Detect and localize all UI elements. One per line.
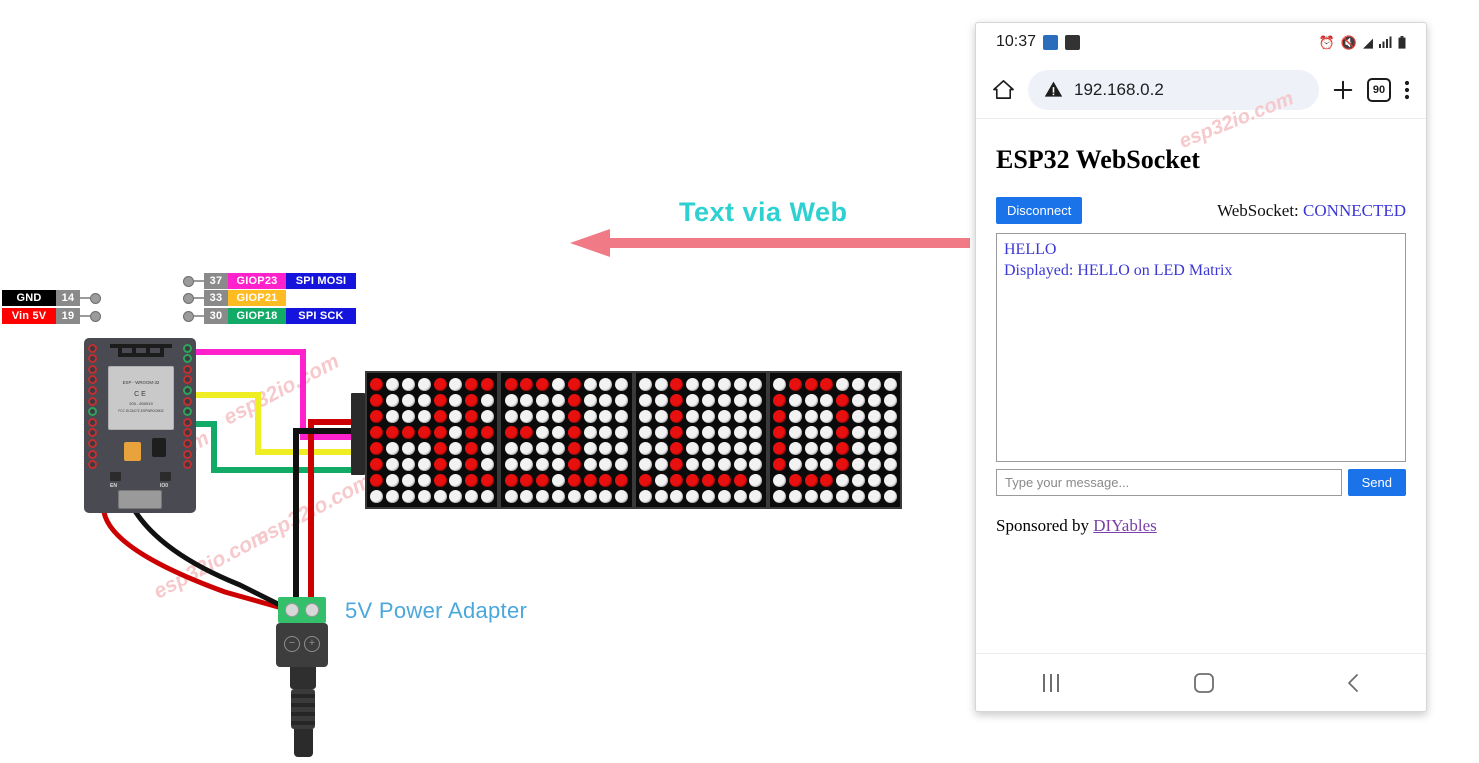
led-row bbox=[772, 456, 898, 472]
led-off bbox=[536, 458, 549, 471]
led-on bbox=[670, 426, 683, 439]
led-off bbox=[481, 490, 494, 503]
led-off bbox=[773, 474, 786, 487]
led-off bbox=[505, 458, 518, 471]
led-off bbox=[852, 474, 865, 487]
led-on bbox=[702, 474, 715, 487]
led-on bbox=[820, 378, 833, 391]
led-off bbox=[852, 410, 865, 423]
led-off bbox=[449, 490, 462, 503]
browser-toolbar: 192.168.0.2 90 bbox=[976, 61, 1426, 119]
websocket-control-row: Disconnect WebSocket: CONNECTED bbox=[996, 197, 1406, 224]
led-off bbox=[568, 490, 581, 503]
ws-status-label: WebSocket: bbox=[1217, 201, 1299, 220]
led-off bbox=[820, 410, 833, 423]
led-off bbox=[734, 442, 747, 455]
led-off bbox=[884, 474, 897, 487]
led-on bbox=[370, 410, 383, 423]
led-row bbox=[503, 376, 629, 392]
led-off bbox=[449, 474, 462, 487]
en-button bbox=[110, 472, 121, 481]
led-off bbox=[418, 490, 431, 503]
matrix-connector bbox=[351, 393, 365, 475]
alarm-icon: ⏰ bbox=[1319, 36, 1335, 49]
led-on bbox=[734, 474, 747, 487]
led-off bbox=[552, 442, 565, 455]
led-off bbox=[749, 394, 762, 407]
led-off bbox=[418, 394, 431, 407]
led-off bbox=[599, 442, 612, 455]
led-off bbox=[805, 458, 818, 471]
led-off bbox=[386, 394, 399, 407]
led-off bbox=[749, 378, 762, 391]
led-row bbox=[503, 440, 629, 456]
led-off bbox=[702, 442, 715, 455]
led-on bbox=[434, 474, 447, 487]
url-text[interactable]: 192.168.0.2 bbox=[1074, 80, 1164, 100]
led-on bbox=[465, 474, 478, 487]
led-off bbox=[852, 442, 865, 455]
home-icon[interactable] bbox=[992, 78, 1015, 101]
mute-icon: 🔇 bbox=[1341, 36, 1357, 49]
battery-icon bbox=[1398, 36, 1406, 49]
led-on bbox=[434, 426, 447, 439]
led-on bbox=[686, 474, 699, 487]
back-icon[interactable] bbox=[1345, 672, 1361, 694]
led-off bbox=[805, 394, 818, 407]
led-off bbox=[820, 442, 833, 455]
led-on bbox=[789, 378, 802, 391]
led-on bbox=[670, 442, 683, 455]
led-on bbox=[836, 410, 849, 423]
led-off bbox=[584, 394, 597, 407]
led-on bbox=[568, 410, 581, 423]
overflow-menu-icon[interactable] bbox=[1404, 79, 1410, 101]
led-on bbox=[820, 474, 833, 487]
led-off bbox=[868, 474, 881, 487]
led-off bbox=[552, 378, 565, 391]
send-button[interactable]: Send bbox=[1348, 469, 1406, 496]
led-on bbox=[520, 474, 533, 487]
led-on bbox=[465, 458, 478, 471]
led-matrix-display bbox=[365, 371, 902, 509]
led-off bbox=[805, 442, 818, 455]
home-nav-icon[interactable] bbox=[1193, 672, 1215, 694]
led-off bbox=[852, 426, 865, 439]
led-off bbox=[718, 410, 731, 423]
led-row bbox=[503, 424, 629, 440]
regulator-chip bbox=[124, 442, 141, 461]
led-off bbox=[584, 426, 597, 439]
led-on bbox=[465, 442, 478, 455]
led-off bbox=[615, 490, 628, 503]
led-on bbox=[481, 474, 494, 487]
led-on bbox=[639, 474, 652, 487]
led-on bbox=[718, 474, 731, 487]
led-on bbox=[789, 474, 802, 487]
led-off bbox=[718, 394, 731, 407]
led-off bbox=[615, 378, 628, 391]
led-off bbox=[670, 490, 683, 503]
led-off bbox=[402, 458, 415, 471]
led-off bbox=[820, 458, 833, 471]
led-off bbox=[655, 490, 668, 503]
led-off bbox=[599, 458, 612, 471]
led-off bbox=[868, 394, 881, 407]
led-row bbox=[638, 408, 764, 424]
led-on bbox=[670, 394, 683, 407]
led-off bbox=[702, 378, 715, 391]
led-off bbox=[552, 394, 565, 407]
led-off bbox=[370, 490, 383, 503]
led-on bbox=[773, 442, 786, 455]
led-on bbox=[481, 426, 494, 439]
sponsor-prefix: Sponsored by bbox=[996, 516, 1093, 535]
led-on bbox=[465, 394, 478, 407]
led-off bbox=[805, 410, 818, 423]
led-row bbox=[638, 488, 764, 504]
power-adapter: − + bbox=[278, 597, 328, 757]
led-off bbox=[615, 426, 628, 439]
led-off bbox=[536, 490, 549, 503]
led-off bbox=[418, 410, 431, 423]
led-off bbox=[520, 442, 533, 455]
led-row bbox=[638, 424, 764, 440]
led-off bbox=[418, 378, 431, 391]
led-off bbox=[639, 426, 652, 439]
led-off bbox=[734, 394, 747, 407]
led-off bbox=[718, 458, 731, 471]
screw-terminal bbox=[278, 597, 326, 623]
led-off bbox=[702, 410, 715, 423]
led-row bbox=[772, 472, 898, 488]
en-label: EN bbox=[110, 483, 117, 489]
status-bar: 10:37 ⏰ 🔇 ◢ bbox=[976, 23, 1426, 61]
led-off bbox=[749, 458, 762, 471]
log-line: HELLO bbox=[1004, 239, 1398, 260]
led-row bbox=[638, 376, 764, 392]
led-panel-3 bbox=[634, 371, 768, 509]
led-off bbox=[505, 394, 518, 407]
disconnect-button[interactable]: Disconnect bbox=[996, 197, 1082, 224]
url-bar[interactable]: 192.168.0.2 bbox=[1028, 70, 1319, 110]
led-off bbox=[449, 378, 462, 391]
led-off bbox=[773, 378, 786, 391]
led-off bbox=[686, 394, 699, 407]
plus-icon[interactable] bbox=[1332, 79, 1354, 101]
led-off bbox=[639, 442, 652, 455]
led-off bbox=[868, 490, 881, 503]
led-off bbox=[520, 394, 533, 407]
led-off bbox=[868, 410, 881, 423]
led-off bbox=[386, 474, 399, 487]
led-row bbox=[369, 424, 495, 440]
led-off bbox=[686, 490, 699, 503]
boot-label: IO0 bbox=[160, 483, 168, 489]
led-on bbox=[536, 378, 549, 391]
led-off bbox=[615, 442, 628, 455]
led-off bbox=[884, 394, 897, 407]
log-line: Displayed: HELLO on LED Matrix bbox=[1004, 260, 1398, 281]
led-off bbox=[852, 490, 865, 503]
led-off bbox=[639, 410, 652, 423]
led-off bbox=[686, 426, 699, 439]
led-off bbox=[868, 378, 881, 391]
led-off bbox=[552, 490, 565, 503]
led-on bbox=[670, 410, 683, 423]
message-log: HELLO Displayed: HELLO on LED Matrix bbox=[996, 233, 1406, 462]
led-row bbox=[369, 488, 495, 504]
led-on bbox=[370, 474, 383, 487]
led-off bbox=[465, 490, 478, 503]
message-input[interactable] bbox=[996, 469, 1342, 496]
led-off bbox=[599, 426, 612, 439]
led-on bbox=[481, 378, 494, 391]
led-off bbox=[718, 426, 731, 439]
led-row bbox=[772, 392, 898, 408]
screenshot-icon bbox=[1065, 35, 1080, 50]
led-off bbox=[449, 458, 462, 471]
led-off bbox=[734, 378, 747, 391]
led-off bbox=[639, 490, 652, 503]
sponsor-link[interactable]: DIYables bbox=[1093, 516, 1156, 535]
led-on bbox=[370, 442, 383, 455]
led-on bbox=[370, 378, 383, 391]
led-off bbox=[386, 458, 399, 471]
not-secure-warning-icon[interactable] bbox=[1044, 80, 1063, 99]
led-off bbox=[449, 442, 462, 455]
led-row bbox=[369, 472, 495, 488]
led-row bbox=[638, 440, 764, 456]
led-off bbox=[449, 394, 462, 407]
led-off bbox=[884, 410, 897, 423]
led-off bbox=[655, 410, 668, 423]
led-off bbox=[552, 410, 565, 423]
led-on bbox=[773, 394, 786, 407]
polarity-minus-icon: − bbox=[284, 636, 300, 652]
led-off bbox=[615, 458, 628, 471]
status-clock: 10:37 bbox=[996, 33, 1036, 51]
led-off bbox=[505, 442, 518, 455]
led-off bbox=[686, 458, 699, 471]
led-off bbox=[505, 410, 518, 423]
led-on bbox=[505, 474, 518, 487]
led-off bbox=[718, 490, 731, 503]
led-row bbox=[772, 408, 898, 424]
led-on bbox=[370, 458, 383, 471]
led-off bbox=[481, 410, 494, 423]
led-off bbox=[789, 490, 802, 503]
led-off bbox=[789, 410, 802, 423]
led-row bbox=[772, 376, 898, 392]
led-off bbox=[702, 490, 715, 503]
led-on bbox=[434, 410, 447, 423]
led-off bbox=[552, 426, 565, 439]
module-sub2: FCC ID:2AC7Z-ESPWROOM32 bbox=[109, 409, 173, 413]
led-off bbox=[836, 474, 849, 487]
led-off bbox=[599, 490, 612, 503]
esp32-board: ESP - WROOM-32 CE 205 - 800519 FCC ID:2A… bbox=[84, 338, 196, 513]
led-row bbox=[503, 408, 629, 424]
led-row bbox=[369, 440, 495, 456]
led-off bbox=[868, 442, 881, 455]
led-off bbox=[584, 378, 597, 391]
led-row bbox=[503, 392, 629, 408]
recents-icon[interactable] bbox=[1041, 674, 1063, 692]
led-on bbox=[465, 426, 478, 439]
led-on bbox=[465, 378, 478, 391]
strain-relief bbox=[291, 689, 315, 729]
led-off bbox=[615, 410, 628, 423]
phone-screenshot: 10:37 ⏰ 🔇 ◢ bbox=[975, 22, 1427, 712]
tab-count-button[interactable]: 90 bbox=[1367, 78, 1391, 102]
led-on bbox=[505, 378, 518, 391]
led-off bbox=[836, 378, 849, 391]
screw-icon bbox=[285, 603, 299, 617]
led-row bbox=[503, 456, 629, 472]
led-off bbox=[386, 490, 399, 503]
led-off bbox=[639, 458, 652, 471]
led-off bbox=[584, 442, 597, 455]
led-on bbox=[599, 474, 612, 487]
led-off bbox=[820, 490, 833, 503]
led-off bbox=[418, 474, 431, 487]
dc-jack-body: − + bbox=[276, 623, 328, 667]
ws-status-value: CONNECTED bbox=[1303, 201, 1406, 220]
led-off bbox=[655, 426, 668, 439]
led-off bbox=[386, 410, 399, 423]
send-message-row: Send bbox=[996, 469, 1406, 496]
led-on bbox=[386, 426, 399, 439]
led-on bbox=[568, 426, 581, 439]
led-on bbox=[670, 458, 683, 471]
led-off bbox=[749, 410, 762, 423]
wifi-icon: ◢ bbox=[1363, 36, 1373, 49]
led-off bbox=[852, 378, 865, 391]
screw-icon bbox=[305, 603, 319, 617]
usb-uart-chip bbox=[152, 438, 166, 457]
pin-rail-left bbox=[86, 342, 99, 509]
led-on bbox=[434, 394, 447, 407]
led-off bbox=[884, 378, 897, 391]
led-row bbox=[369, 392, 495, 408]
led-off bbox=[884, 458, 897, 471]
page-title: ESP32 WebSocket bbox=[996, 145, 1406, 175]
module-sub1: 205 - 800519 bbox=[109, 401, 173, 406]
led-on bbox=[584, 474, 597, 487]
led-panel-2 bbox=[499, 371, 633, 509]
led-off bbox=[520, 410, 533, 423]
led-off bbox=[449, 426, 462, 439]
led-row bbox=[772, 424, 898, 440]
led-on bbox=[434, 458, 447, 471]
led-off bbox=[655, 378, 668, 391]
led-row bbox=[369, 376, 495, 392]
module-label: ESP - WROOM-32 bbox=[109, 380, 173, 385]
led-off bbox=[734, 426, 747, 439]
led-off bbox=[655, 474, 668, 487]
led-off bbox=[655, 442, 668, 455]
led-off bbox=[805, 490, 818, 503]
led-off bbox=[686, 410, 699, 423]
led-off bbox=[773, 490, 786, 503]
led-on bbox=[773, 410, 786, 423]
led-row bbox=[503, 472, 629, 488]
led-off bbox=[702, 426, 715, 439]
led-off bbox=[749, 490, 762, 503]
led-off bbox=[734, 410, 747, 423]
led-off bbox=[505, 490, 518, 503]
led-off bbox=[584, 410, 597, 423]
led-on bbox=[836, 442, 849, 455]
led-off bbox=[402, 474, 415, 487]
android-nav-bar bbox=[976, 653, 1426, 711]
led-on bbox=[836, 394, 849, 407]
led-on bbox=[418, 426, 431, 439]
led-off bbox=[749, 426, 762, 439]
led-on bbox=[670, 474, 683, 487]
led-off bbox=[402, 490, 415, 503]
led-off bbox=[449, 410, 462, 423]
led-off bbox=[536, 426, 549, 439]
led-off bbox=[836, 490, 849, 503]
led-on bbox=[568, 458, 581, 471]
led-off bbox=[734, 458, 747, 471]
led-off bbox=[402, 394, 415, 407]
led-row bbox=[503, 488, 629, 504]
led-off bbox=[615, 394, 628, 407]
led-on bbox=[536, 474, 549, 487]
led-off bbox=[884, 490, 897, 503]
led-on bbox=[434, 442, 447, 455]
led-off bbox=[884, 426, 897, 439]
led-off bbox=[434, 490, 447, 503]
led-on bbox=[568, 474, 581, 487]
led-row bbox=[638, 472, 764, 488]
pcb-antenna-icon bbox=[110, 344, 172, 364]
led-on bbox=[836, 426, 849, 439]
led-off bbox=[734, 490, 747, 503]
led-panel-4 bbox=[768, 371, 902, 509]
annotation-text-via-web: Text via Web bbox=[679, 197, 848, 228]
led-off bbox=[386, 378, 399, 391]
led-off bbox=[552, 458, 565, 471]
led-on bbox=[670, 378, 683, 391]
led-off bbox=[868, 458, 881, 471]
jack-neck bbox=[290, 667, 316, 689]
wiring-diagram: esp32io.com esp32io.com esp32io.com esp3… bbox=[0, 0, 975, 763]
led-panel-1 bbox=[365, 371, 499, 509]
led-on bbox=[370, 394, 383, 407]
led-on bbox=[805, 378, 818, 391]
led-off bbox=[418, 442, 431, 455]
led-row bbox=[772, 440, 898, 456]
led-off bbox=[820, 426, 833, 439]
led-on bbox=[773, 458, 786, 471]
led-off bbox=[686, 442, 699, 455]
led-off bbox=[718, 378, 731, 391]
led-off bbox=[520, 458, 533, 471]
polarity-plus-icon: + bbox=[304, 636, 320, 652]
led-on bbox=[505, 426, 518, 439]
led-off bbox=[852, 394, 865, 407]
led-off bbox=[402, 410, 415, 423]
led-off bbox=[749, 474, 762, 487]
led-off bbox=[702, 458, 715, 471]
sponsor-line: Sponsored by DIYables bbox=[996, 516, 1406, 536]
led-off bbox=[655, 458, 668, 471]
led-off bbox=[536, 410, 549, 423]
